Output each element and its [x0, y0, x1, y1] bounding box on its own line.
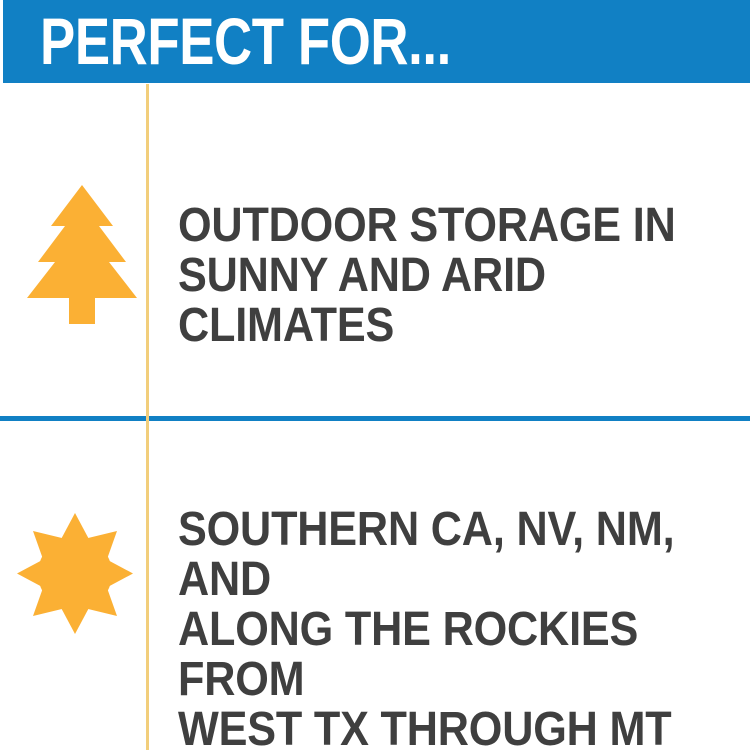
- pine-tree-icon: [27, 185, 137, 324]
- header-band: PERFECT FOR...: [3, 0, 750, 83]
- text-cell-regions: SOUTHERN CA, NV, NM, AND ALONG THE ROCKI…: [178, 505, 750, 755]
- icon-cell-regions: [0, 421, 146, 750]
- vertical-divider: [146, 84, 149, 750]
- sun-icon: [17, 513, 133, 634]
- icon-cell-outdoor-storage: [0, 84, 146, 416]
- list-item-label: SOUTHERN CA, NV, NM, AND ALONG THE ROCKI…: [178, 505, 693, 755]
- page-title: PERFECT FOR...: [40, 4, 451, 78]
- list-item-label: OUTDOOR STORAGE IN SUNNY AND ARID CLIMAT…: [178, 201, 693, 351]
- perfect-for-infographic: PERFECT FOR... OUTDOOR STORAGE IN SUNNY …: [0, 0, 750, 750]
- list-item: OUTDOOR STORAGE IN SUNNY AND ARID CLIMAT…: [0, 84, 750, 416]
- text-cell-outdoor-storage: OUTDOOR STORAGE IN SUNNY AND ARID CLIMAT…: [178, 201, 750, 351]
- list-item: SOUTHERN CA, NV, NM, AND ALONG THE ROCKI…: [0, 421, 750, 750]
